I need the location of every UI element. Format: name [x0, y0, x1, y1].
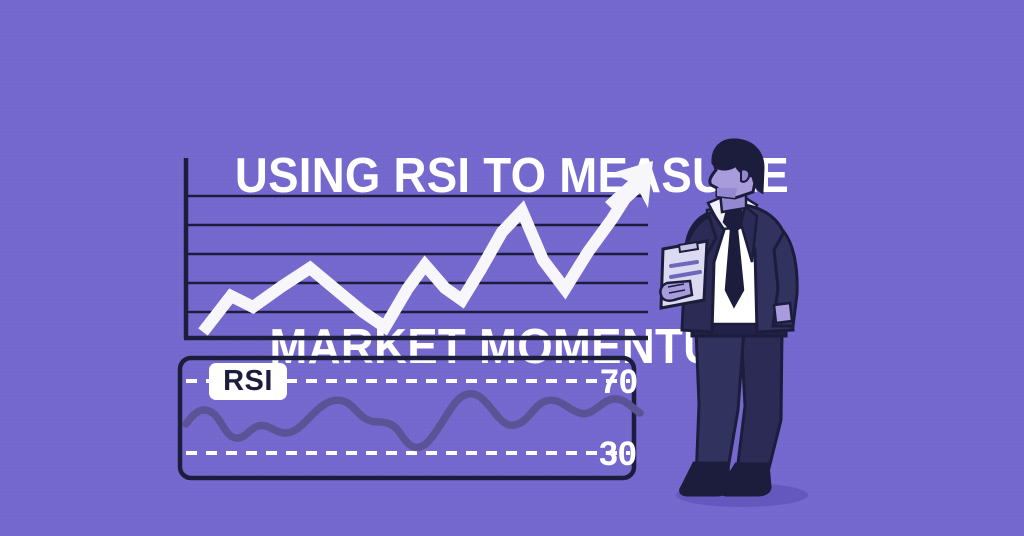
figure-pocket-hand — [774, 303, 792, 323]
figure-front-shoe — [681, 463, 729, 495]
figure-front-leg — [696, 330, 744, 480]
figure-ear — [741, 169, 749, 181]
infographic-canvas: USING RSI TO MEASURE MARKET MOMENTUM — [0, 0, 1024, 536]
businessman-illustration — [0, 0, 1024, 536]
